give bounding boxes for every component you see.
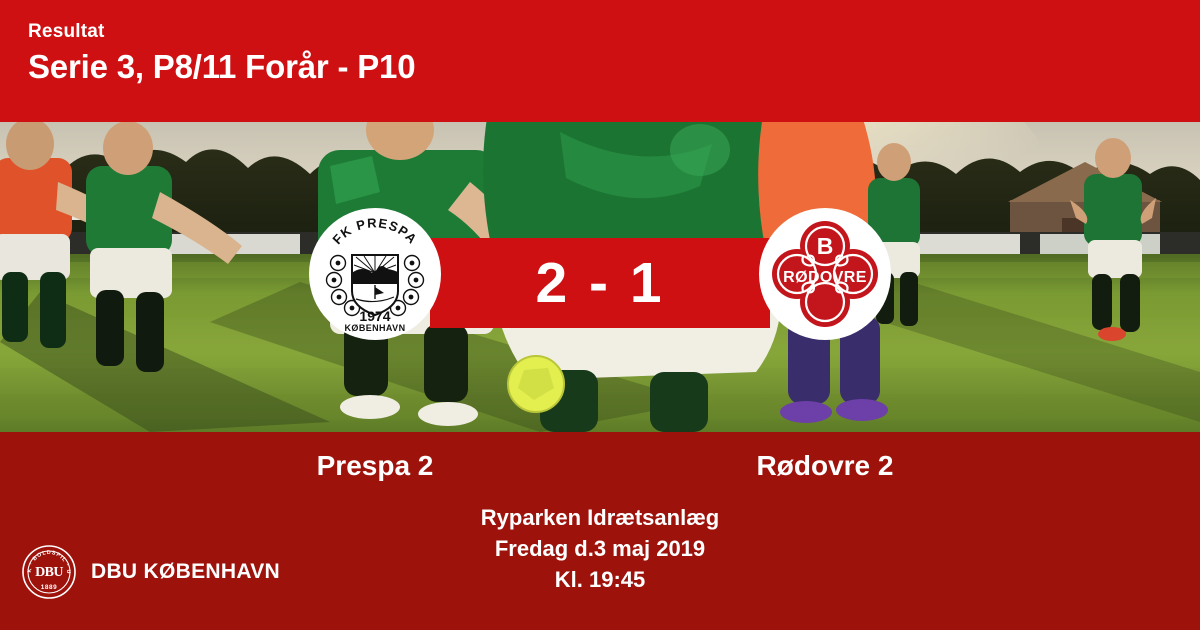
home-team-logo: FK PRESPA bbox=[309, 208, 441, 340]
svg-text:1889: 1889 bbox=[41, 584, 58, 591]
football bbox=[508, 356, 564, 412]
header-kicker: Resultat bbox=[28, 20, 1200, 44]
page-title: Serie 3, P8/11 Forår - P10 bbox=[28, 46, 1200, 89]
match-venue: Ryparken Idrætsanlæg bbox=[0, 502, 1200, 533]
score-banner: 2 - 1 bbox=[430, 238, 770, 328]
dbu-org-label: DBU KØBENHAVN bbox=[91, 560, 280, 584]
svg-text:FK PRESPA: FK PRESPA bbox=[329, 215, 420, 247]
svg-text:1974: 1974 bbox=[359, 308, 390, 324]
dbu-badge-icon: DANSK · BOLDSPIL · UNION DBU 1889 bbox=[22, 545, 76, 599]
away-team-name: Rødovre 2 bbox=[675, 450, 975, 482]
header: Resultat Serie 3, P8/11 Forår - P10 bbox=[0, 0, 1200, 122]
home-team-name: Prespa 2 bbox=[225, 450, 525, 482]
svg-text:B: B bbox=[817, 233, 834, 259]
team-names-row: Prespa 2 Rødovre 2 bbox=[0, 432, 1200, 500]
b-rodovre-crest-icon: B RØDOVRE bbox=[771, 220, 879, 328]
svg-text:DBU: DBU bbox=[35, 565, 63, 580]
dbu-footer-logo: DANSK · BOLDSPIL · UNION DBU 1889 DBU KØ… bbox=[22, 545, 280, 599]
away-team-logo: B RØDOVRE bbox=[759, 208, 891, 340]
score-value: 2 - 1 bbox=[535, 255, 664, 312]
match-result-card: Resultat Serie 3, P8/11 Forår - P10 bbox=[0, 0, 1200, 630]
fk-prespa-crest-icon: FK PRESPA bbox=[316, 215, 434, 333]
svg-text:RØDOVRE: RØDOVRE bbox=[783, 269, 867, 286]
svg-text:KØBENHAVN: KØBENHAVN bbox=[345, 323, 406, 333]
